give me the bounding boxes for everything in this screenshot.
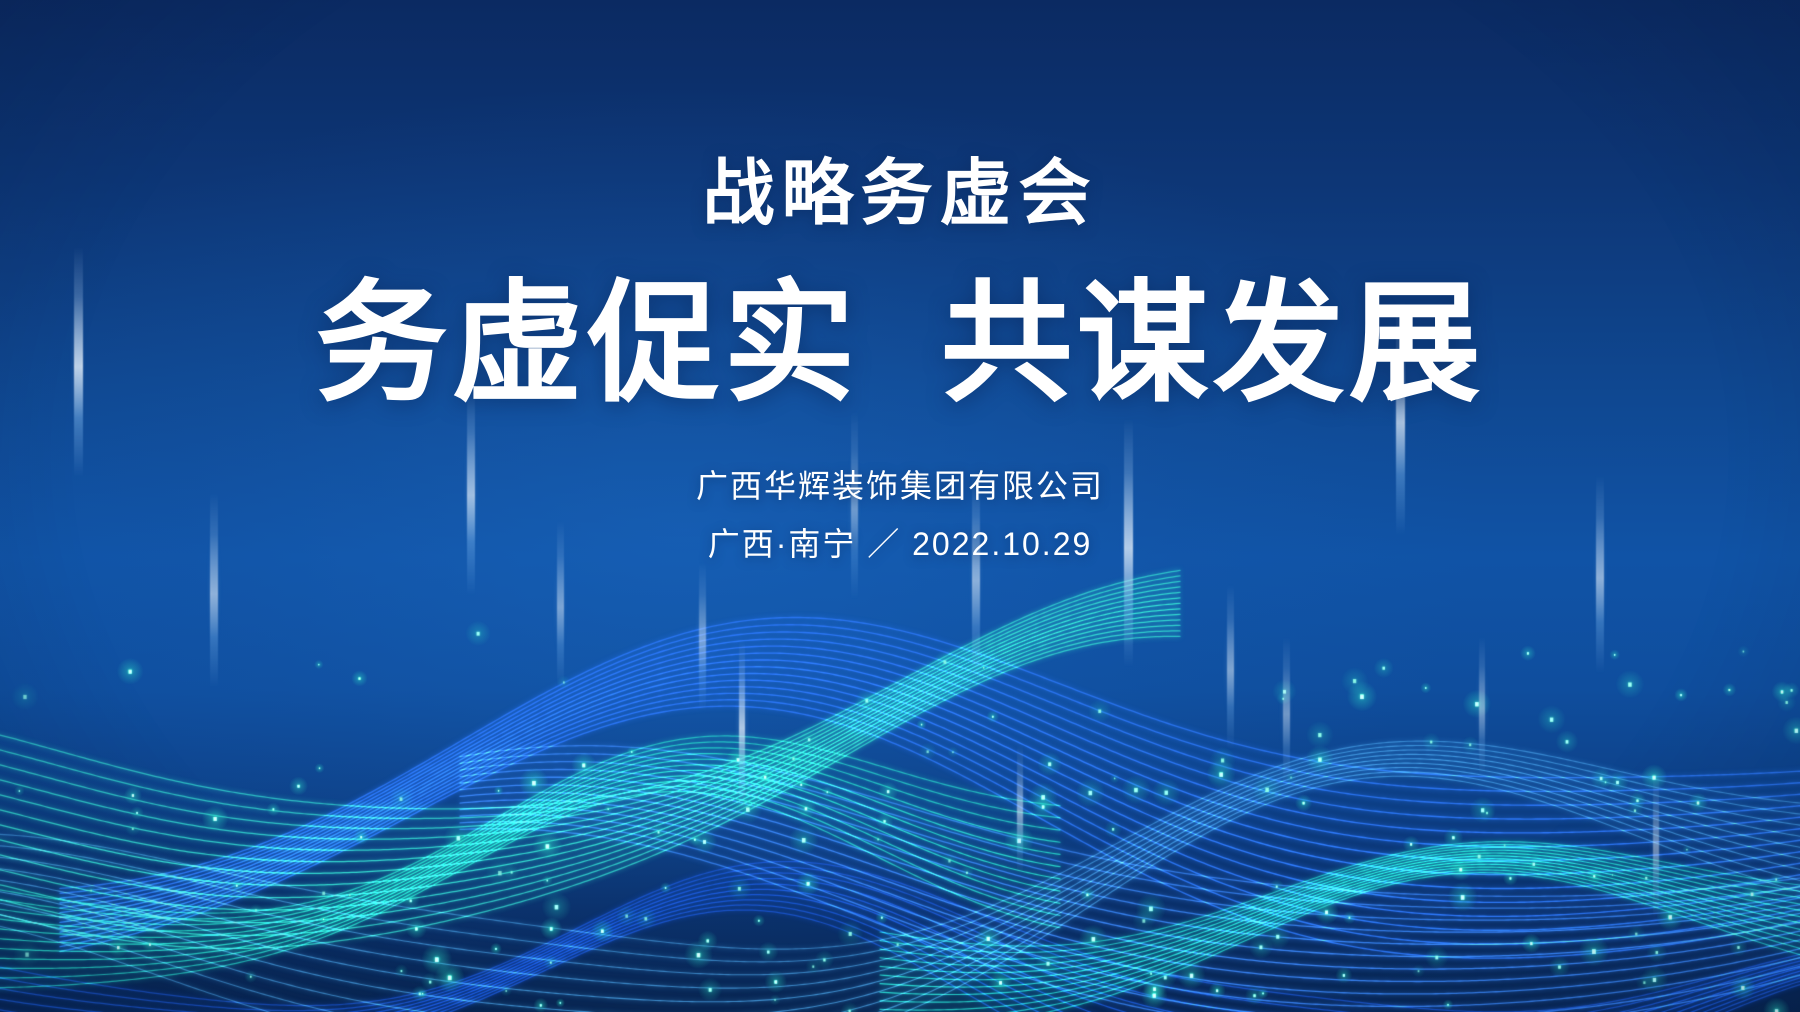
light-beam-4 — [699, 562, 706, 712]
organization-name: 广西华辉装饰集团有限公司 — [0, 470, 1800, 502]
poster-stage: 战略务虚会 务虚促实 共谋发展 广西华辉装饰集团有限公司 广西·南宁 ／ 202… — [0, 0, 1800, 1012]
light-beam-15 — [1017, 744, 1023, 874]
light-beam-14 — [1653, 770, 1659, 920]
poster-headline: 务虚促实 共谋发展 — [0, 274, 1800, 414]
light-beam-9 — [1227, 584, 1234, 750]
light-beam-10 — [1283, 636, 1290, 786]
light-beam-5 — [739, 640, 745, 810]
event-kicker-title: 战略务虚会 — [0, 158, 1800, 230]
location-date-line: 广西·南宁 ／ 2022.10.29 — [0, 528, 1800, 560]
light-beam-12 — [1479, 636, 1485, 776]
poster-content: 战略务虚会 务虚促实 共谋发展 广西华辉装饰集团有限公司 广西·南宁 ／ 202… — [0, 0, 1800, 560]
